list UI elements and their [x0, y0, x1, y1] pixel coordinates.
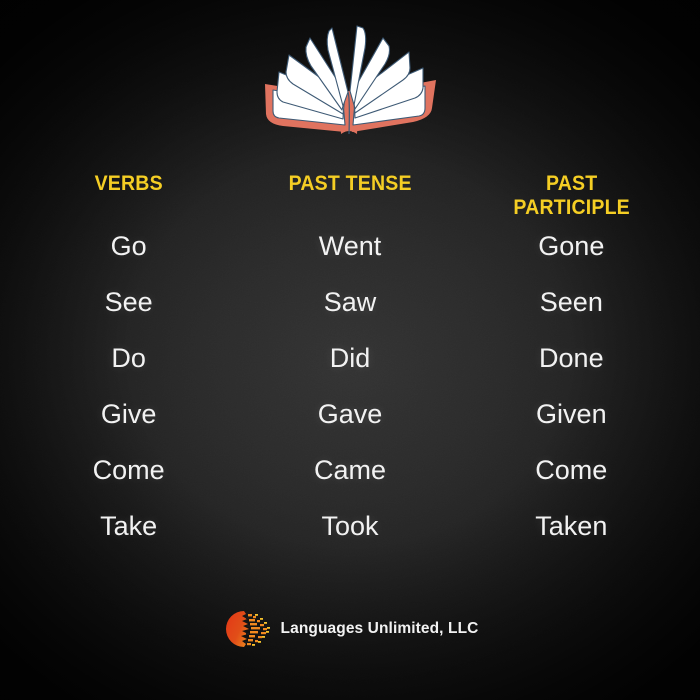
table-cell-past-0: Went: [319, 218, 382, 274]
table-cell-base-5: Take: [100, 498, 157, 554]
table-cell-participle-0: Gone: [538, 218, 604, 274]
column-header-verbs: VERBS: [95, 172, 163, 218]
table-cell-past-2: Did: [330, 330, 371, 386]
footer-brand-text: Languages Unlimited, LLC: [281, 620, 479, 638]
table-cell-participle-1: Seen: [540, 274, 603, 330]
table-cell-participle-3: Given: [536, 386, 607, 442]
column-header-past-tense: PAST TENSE: [288, 172, 411, 218]
table-cell-base-4: Come: [93, 442, 165, 498]
table-cell-past-1: Saw: [324, 274, 377, 330]
table-cell-base-0: Go: [111, 218, 147, 274]
table-cell-participle-2: Done: [539, 330, 604, 386]
table-cell-past-5: Took: [321, 498, 378, 554]
column-verbs: VERBS Go See Do Give Come Take: [18, 172, 239, 554]
column-past-tense: PAST TENSE Went Saw Did Gave Came Took: [239, 172, 460, 554]
verb-conjugation-table: VERBS Go See Do Give Come Take PAST TENS…: [0, 172, 700, 554]
table-cell-base-2: Do: [111, 330, 146, 386]
table-cell-participle-5: Taken: [535, 498, 607, 554]
languages-unlimited-logo: [222, 608, 272, 650]
header-icon-container: [0, 22, 700, 147]
footer-branding: Languages Unlimited, LLC: [0, 608, 700, 650]
table-cell-past-4: Came: [314, 442, 386, 498]
column-past-participle: PAST PARTICIPLE Gone Seen Done Given Com…: [461, 172, 682, 554]
poster-canvas: VERBS Go See Do Give Come Take PAST TENS…: [0, 0, 700, 700]
column-header-past-participle: PAST PARTICIPLE: [513, 172, 630, 218]
table-cell-participle-4: Come: [535, 442, 607, 498]
table-cell-base-1: See: [105, 274, 153, 330]
table-cell-base-3: Give: [101, 386, 157, 442]
open-book-icon: [253, 22, 448, 147]
table-cell-past-3: Gave: [318, 386, 383, 442]
